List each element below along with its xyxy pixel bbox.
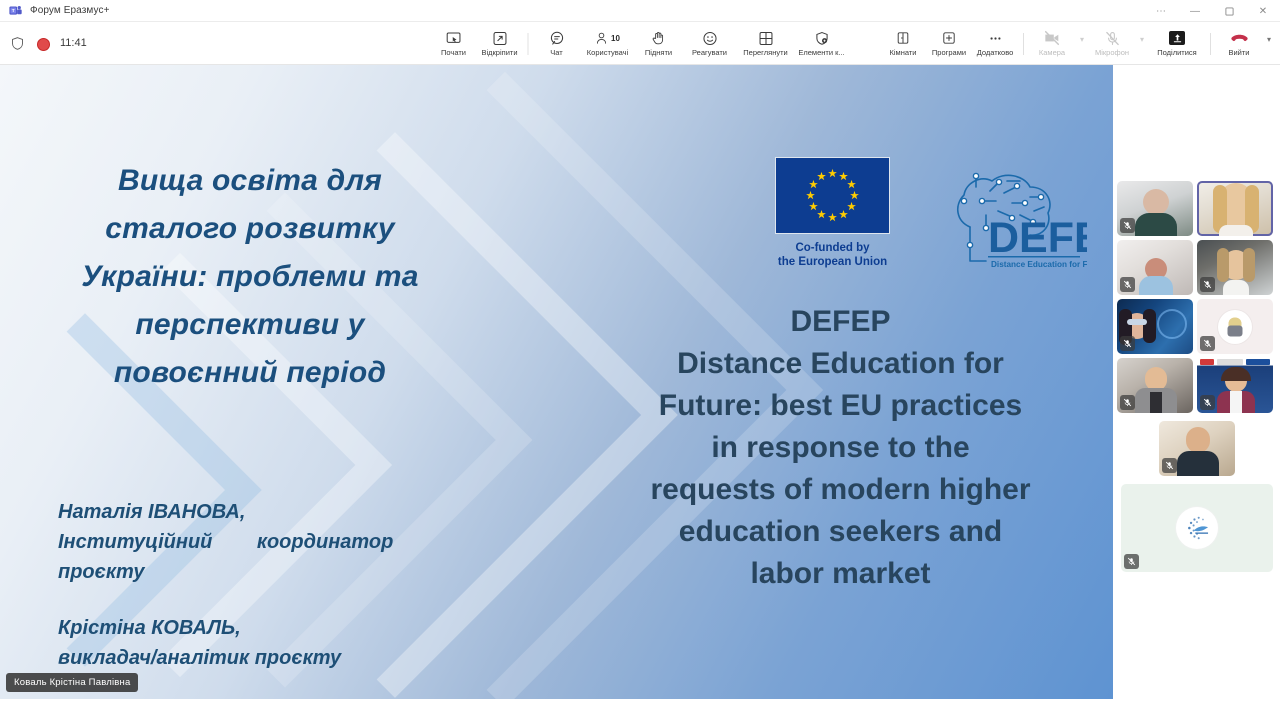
recording-timer: 11:41 <box>60 37 87 49</box>
teams-icon: T <box>8 4 22 18</box>
slide-presenters: Наталія ІВАНОВА, Інституційний координат… <box>58 497 488 699</box>
slide-right-column: Co-funded by the European Union <box>560 65 1113 699</box>
camera-button[interactable]: Камера <box>1029 22 1075 65</box>
start-presenting-button[interactable]: Почати <box>431 22 477 65</box>
presenter-role-line: проєкту <box>58 557 488 587</box>
mic-off-icon <box>1162 458 1177 473</box>
slide-title: Вища освіта для сталого розвитку України… <box>30 157 470 397</box>
slide-subtitle-line: education seekers and <box>568 511 1113 553</box>
view-label: Переглянути <box>743 48 787 57</box>
chat-label: Чат <box>550 48 562 57</box>
more-button[interactable]: Додатково <box>972 22 1018 65</box>
eu-flag-icon <box>775 157 890 234</box>
present-screen-icon <box>445 29 462 47</box>
meeting-stage: Вища освіта для сталого розвитку України… <box>0 65 1280 720</box>
eu-cofunded-logo: Co-funded by the European Union <box>775 157 890 269</box>
pop-out-icon <box>491 29 508 47</box>
defep-wordmark: DEFEP <box>988 214 1087 262</box>
participant-tile-3[interactable] <box>1117 240 1193 295</box>
presenter-role-part: координатор <box>257 527 394 557</box>
toolbar-right-actions: Кімнати Програми Додатково Камера ▾ <box>880 22 1276 65</box>
toolbar-divider-2 <box>1023 33 1024 55</box>
participant-tile-5[interactable] <box>1117 299 1193 354</box>
meeting-elements-label: Елементи к... <box>798 48 844 57</box>
toolbar-divider-1 <box>528 33 529 55</box>
presenter-block: Крістіна КОВАЛЬ, викладач/аналітик проєк… <box>58 613 488 673</box>
presentation-slide: Вища освіта для сталого розвитку України… <box>0 65 1113 699</box>
pop-out-label: Відкріпити <box>481 48 517 57</box>
mic-off-icon <box>1124 554 1139 569</box>
organization-logo-icon <box>1176 507 1218 549</box>
participant-tile-1[interactable] <box>1117 181 1193 236</box>
mic-off-icon <box>1200 277 1215 292</box>
slide-title-line: сталого розвитку <box>30 205 470 253</box>
window-title-bar: T Форум Еразмус+ ⋯ — ✕ <box>0 0 1280 22</box>
microphone-label: Мікрофон <box>1095 48 1129 57</box>
participant-tile-10[interactable] <box>1121 484 1273 572</box>
presenter-name: Крістіна КОВАЛЬ, <box>58 613 488 643</box>
mic-off-icon <box>1120 277 1135 292</box>
presenter-role-line: викладач/аналітик проєкту <box>58 643 488 673</box>
meeting-elements-button[interactable]: Елементи к... <box>794 22 850 65</box>
presenter-name: Наталія ІВАНОВА, <box>58 497 488 527</box>
participants-count: 10 <box>611 34 620 43</box>
breakout-rooms-icon <box>895 29 911 47</box>
mic-off-icon <box>1120 395 1135 410</box>
leave-button[interactable]: Вийти <box>1216 22 1262 65</box>
react-label: Реагувати <box>692 48 727 57</box>
leave-options-chevron-down-icon[interactable]: ▾ <box>1262 22 1276 65</box>
meeting-toolbar: 11:41 Почати Відкріпити Чат 10 <box>0 22 1280 65</box>
hangup-icon <box>1230 29 1249 47</box>
presenter-role-line: Інституційний координатор <box>58 527 488 557</box>
shared-content-area[interactable]: Вища освіта для сталого розвитку України… <box>0 65 1113 699</box>
eu-caption-line: Co-funded by <box>775 241 890 255</box>
recording-indicator-icon <box>35 36 50 51</box>
people-icon: 10 <box>595 29 620 47</box>
meeting-elements-icon <box>813 29 830 47</box>
mic-off-icon <box>1120 336 1135 351</box>
slide-subtitle-line: Future: best EU practices <box>568 385 1113 427</box>
participant-roster <box>1113 65 1280 720</box>
mic-off-icon <box>1120 218 1135 233</box>
eu-logo-caption: Co-funded by the European Union <box>775 241 890 269</box>
participant-tile-8[interactable] <box>1197 358 1273 413</box>
window-title: Форум Еразмус+ <box>30 5 110 16</box>
mic-off-icon <box>1104 29 1121 47</box>
participant-tile-grid <box>1113 181 1280 572</box>
raise-hand-button[interactable]: Підняти <box>636 22 682 65</box>
participant-tile-6[interactable] <box>1197 299 1273 354</box>
raise-hand-icon <box>651 29 667 47</box>
participant-tile-4[interactable] <box>1197 240 1273 295</box>
ellipsis-icon <box>987 29 1004 47</box>
slide-subtitle-line: Distance Education for <box>568 343 1113 385</box>
participant-tile-7[interactable] <box>1117 358 1193 413</box>
participant-tile-2[interactable] <box>1197 181 1273 236</box>
chat-bubble-icon <box>548 29 565 47</box>
slide-title-line: України: проблеми та <box>30 253 470 301</box>
microphone-options-chevron-down-icon[interactable]: ▾ <box>1135 22 1149 65</box>
eu-caption-line: the European Union <box>775 255 890 269</box>
camera-options-chevron-down-icon[interactable]: ▾ <box>1075 22 1089 65</box>
slide-subtitle-line: DEFEP <box>568 301 1113 343</box>
participants-label: Користувачі <box>587 48 628 57</box>
smiley-icon <box>701 29 718 47</box>
leave-label: Вийти <box>1228 48 1249 57</box>
view-button[interactable]: Переглянути <box>738 22 794 65</box>
mic-off-icon <box>1200 336 1215 351</box>
slide-title-line: Вища освіта для <box>30 157 470 205</box>
slide-title-line: перспективи у <box>30 301 470 349</box>
toolbar-divider-3 <box>1210 33 1211 55</box>
slide-left-column: Вища освіта для сталого розвитку України… <box>0 65 500 699</box>
rooms-button[interactable]: Кімнати <box>880 22 926 65</box>
recording-status-group: 11:41 <box>10 36 87 51</box>
window-close-button[interactable]: ✕ <box>1246 0 1280 22</box>
share-button[interactable]: Поділитися <box>1149 22 1205 65</box>
apps-plus-icon <box>941 29 957 47</box>
share-label: Поділитися <box>1157 48 1196 57</box>
defep-tagline: Distance Education for Future <box>991 260 1087 269</box>
pop-out-button[interactable]: Відкріпити <box>477 22 523 65</box>
slide-subtitle-line: requests of modern higher <box>568 469 1113 511</box>
defep-brain-circuit-icon: DEFEP Distance Education for Future <box>912 157 1087 277</box>
maximize-icon <box>1225 7 1234 16</box>
presenter-name-badge: Коваль Крістіна Павлівна <box>6 673 138 692</box>
apps-button[interactable]: Програми <box>926 22 972 65</box>
window-maximize-button[interactable] <box>1212 0 1246 22</box>
presenter-role-part: Інституційний <box>58 527 212 557</box>
window-minimize-button[interactable]: — <box>1178 0 1212 22</box>
microphone-button[interactable]: Мікрофон <box>1089 22 1135 65</box>
more-label: Додатково <box>977 48 1014 57</box>
camera-label: Камера <box>1039 48 1065 57</box>
slide-subtitle-line: labor market <box>568 553 1113 595</box>
defep-logo: DEFEP Distance Education for Future <box>912 157 1087 277</box>
raise-hand-label: Підняти <box>645 48 672 57</box>
slide-logos: Co-funded by the European Union <box>775 157 1087 277</box>
grid-view-icon <box>757 29 774 47</box>
camera-off-icon <box>1043 29 1061 47</box>
shield-icon[interactable] <box>10 36 25 51</box>
window-controls: ⋯ — ✕ <box>1144 0 1280 22</box>
slide-title-line: повоєнний період <box>30 349 470 397</box>
mic-off-icon <box>1200 395 1215 410</box>
share-screen-icon <box>1169 29 1185 47</box>
rooms-label: Кімнати <box>890 48 917 57</box>
participants-button[interactable]: 10 Користувачі <box>580 22 636 65</box>
react-button[interactable]: Реагувати <box>682 22 738 65</box>
slide-subtitle-line: in response to the <box>568 427 1113 469</box>
chat-button[interactable]: Чат <box>534 22 580 65</box>
toolbar-center-actions: Почати Відкріпити Чат 10 Користувачі <box>431 22 850 65</box>
svg-text:T: T <box>11 8 14 14</box>
apps-label: Програми <box>932 48 966 57</box>
slide-subtitle: DEFEP Distance Education for Future: bes… <box>568 301 1113 595</box>
start-presenting-label: Почати <box>441 48 466 57</box>
participant-tile-9[interactable] <box>1159 421 1235 476</box>
presenter-block: Наталія ІВАНОВА, Інституційний координат… <box>58 497 488 587</box>
window-more-button[interactable]: ⋯ <box>1144 0 1178 22</box>
